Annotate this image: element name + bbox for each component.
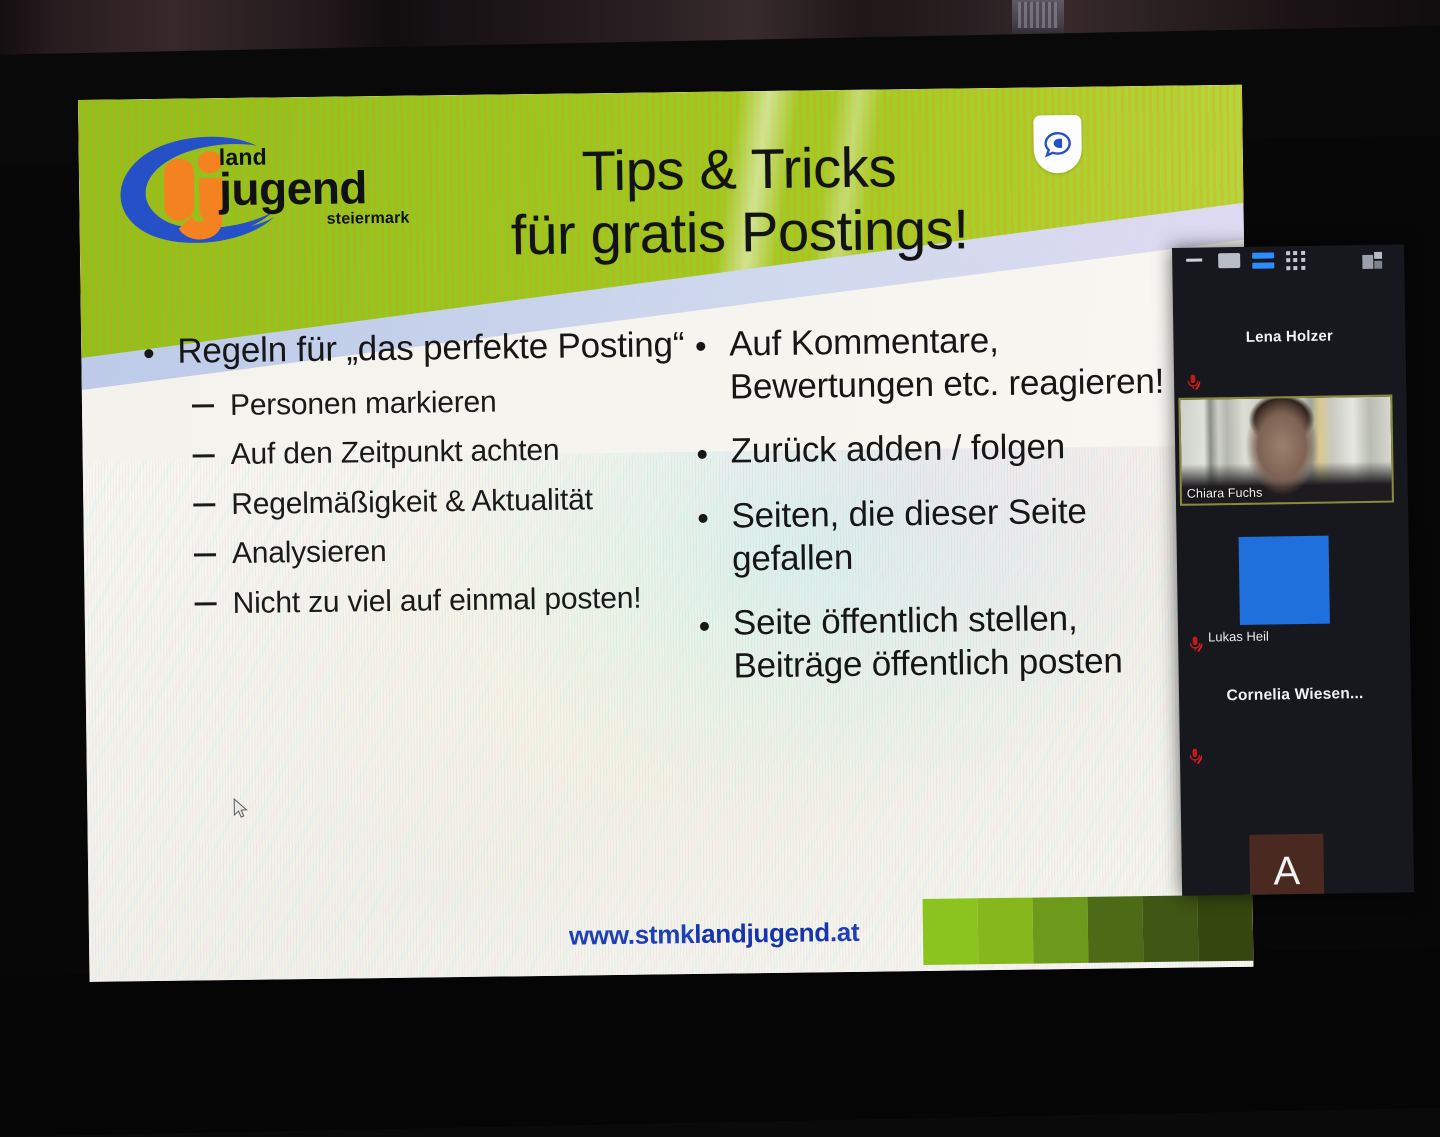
bullet-item: Seiten, die dieser Seite gefallen <box>681 490 1172 582</box>
slide-title: Tips & Tricks für gratis Postings! <box>369 133 1111 269</box>
mute-icon <box>1188 748 1202 764</box>
sub-bullet-list: Personen markieren Auf den Zeitpunkt ach… <box>178 381 691 623</box>
sub-bullet-text: Personen markieren <box>230 385 497 421</box>
sub-bullet-item: Personen markieren <box>178 381 688 425</box>
blue-placeholder-tile <box>1239 536 1330 625</box>
zoom-toolbar[interactable] <box>1172 244 1405 288</box>
dash-icon <box>193 454 215 457</box>
landjugend-logo: land jugend steiermark <box>106 128 408 257</box>
participant-name-cornelia-wiesen[interactable]: Cornelia Wiesen... <box>1179 684 1411 706</box>
slide-column-right: Auf Kommentare, Bewertungen etc. reagier… <box>679 318 1174 711</box>
mouse-cursor <box>233 798 249 820</box>
sub-bullet-text: Analysieren <box>232 535 387 570</box>
video-tile-name-label: Chiara Fuchs <box>1187 486 1263 501</box>
bullet-text: Zurück adden / folgen <box>730 427 1065 470</box>
participant-tile-lukas-heil[interactable] <box>1181 533 1397 644</box>
dash-icon <box>192 404 214 407</box>
ceiling-lamp <box>1012 0 1064 36</box>
dash-icon <box>194 553 216 556</box>
slide-body: Regeln für „das perfekte Posting“ Person… <box>81 317 1253 932</box>
dash-icon <box>195 602 217 605</box>
mute-icon <box>1188 636 1202 652</box>
microphone-muted-icon <box>1188 748 1202 764</box>
sub-bullet-item: Auf den Zeitpunkt achten <box>178 430 688 474</box>
sub-bullet-item: Regelmäßigkeit & Aktualität <box>179 480 689 524</box>
zoom-meeting-panel[interactable]: Lena Holzer Chiara Fuchs <box>1172 244 1414 896</box>
participant-video-tile-chiara-fuchs[interactable]: Chiara Fuchs <box>1178 395 1394 506</box>
slide-title-line-1: Tips & Tricks <box>369 133 1110 206</box>
avatar-letter: A <box>1273 851 1300 891</box>
layout-icon[interactable] <box>1362 252 1382 269</box>
dash-icon <box>193 503 215 506</box>
url-prefix: www.stmk <box>569 919 695 951</box>
presentation-slide[interactable]: land jugend steiermark Tips & Tricks für… <box>78 85 1253 982</box>
speech-bubble-icon <box>1042 129 1072 159</box>
layout-glyph-icon <box>1362 252 1382 269</box>
footer-block <box>1033 897 1089 964</box>
slide-column-left: Regeln für „das perfekte Posting“ Person… <box>127 324 691 639</box>
footer-block <box>923 898 979 965</box>
microphone-muted-icon <box>1188 636 1202 652</box>
url-suffix: .at <box>830 917 860 947</box>
bullet-item: Seite öffentlich stellen, Beiträge öffen… <box>683 597 1174 689</box>
footer-website-url[interactable]: www.stmklandjugend.at <box>569 917 860 952</box>
participant-avatar-initial[interactable]: A <box>1249 834 1324 896</box>
bullet-item: Zurück adden / folgen <box>680 425 1171 474</box>
footer-block <box>1088 896 1144 963</box>
minimize-icon[interactable] <box>1186 259 1202 262</box>
sub-bullet-item: Nicht zu viel auf einmal posten! <box>180 579 690 623</box>
footer-block <box>1198 895 1254 962</box>
gallery-view-icon[interactable] <box>1286 251 1306 271</box>
bullet-item: Regeln für „das perfekte Posting“ Person… <box>127 324 691 623</box>
footer-color-blocks <box>923 895 1254 965</box>
bullet-text: Auf Kommentare, Bewertungen etc. reagier… <box>729 321 1164 406</box>
mouse-pointer-icon <box>233 798 249 820</box>
sub-bullet-item: Analysieren <box>180 529 690 573</box>
sub-bullet-text: Auf den Zeitpunkt achten <box>230 434 559 471</box>
bullet-text: Seite öffentlich stellen, Beiträge öffen… <box>733 599 1123 685</box>
footer-block <box>978 898 1034 965</box>
footer-block <box>1143 895 1199 962</box>
bullet-dot-icon <box>698 514 707 523</box>
bullet-dot-icon <box>698 449 707 458</box>
maximize-icon[interactable] <box>1218 253 1240 268</box>
mute-icon <box>1186 374 1200 390</box>
participant-name-lena-holzer[interactable]: Lena Holzer <box>1173 326 1405 347</box>
bullet-dot-icon <box>144 349 153 358</box>
bullet-dot-icon <box>696 342 705 351</box>
microphone-muted-icon <box>1186 374 1200 390</box>
sub-bullet-text: Regelmäßigkeit & Aktualität <box>231 483 593 521</box>
participant-name-lukas-heil[interactable]: Lukas Heil <box>1208 629 1269 645</box>
speaker-view-icon[interactable] <box>1252 252 1274 268</box>
slide-title-line-2: für gratis Postings! <box>369 196 1110 269</box>
bullet-item: Auf Kommentare, Bewertungen etc. reagier… <box>679 318 1170 410</box>
bullet-text: Regeln für „das perfekte Posting“ <box>177 325 684 371</box>
url-bold: landjugend <box>694 917 830 949</box>
sub-bullet-text: Nicht zu viel auf einmal posten! <box>232 581 641 619</box>
bullet-text: Seiten, die dieser Seite gefallen <box>731 492 1087 578</box>
bullet-dot-icon <box>700 621 709 630</box>
meeting-badge <box>1033 115 1082 174</box>
